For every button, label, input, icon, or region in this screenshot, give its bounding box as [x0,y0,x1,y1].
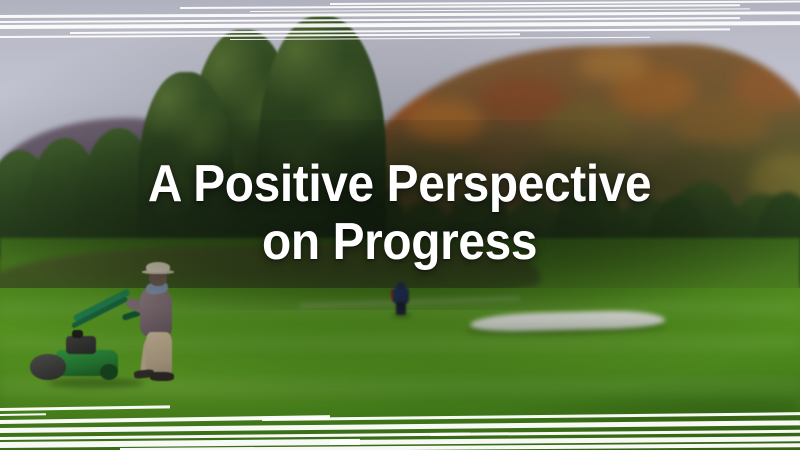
worker-boot [150,372,174,381]
large-evergreen-tree [258,16,386,266]
mower-wheel [100,364,118,380]
mower-fuel-cap [72,330,83,338]
hero-banner: A Positive Perspectiveon Progress [0,0,800,450]
large-evergreen-tree [138,72,234,264]
mower-engine [66,336,96,354]
tree-foliage [258,16,386,266]
golfer-head [397,282,405,289]
mower-roller [30,354,66,380]
worker-jacket [140,288,172,336]
groundskeeper [120,262,196,387]
tree-foliage [138,72,234,264]
worker-hat [146,262,170,272]
golfer-legs [396,302,406,315]
distant-golfer [391,282,411,316]
